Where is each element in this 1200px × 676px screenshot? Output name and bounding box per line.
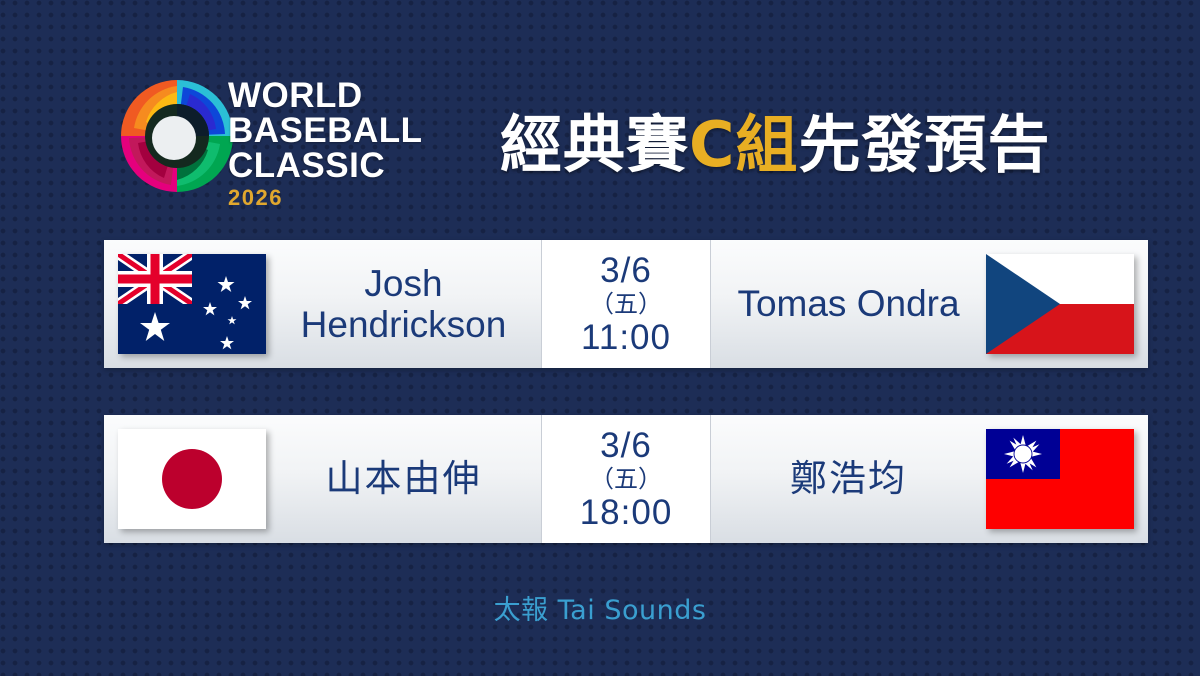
away-player-name: Tomas Ondra bbox=[711, 283, 986, 324]
match-weekday: （五） bbox=[590, 292, 662, 316]
japan-flag-icon bbox=[118, 429, 266, 529]
away-player-name: 鄭浩均 bbox=[711, 458, 986, 499]
match-home-side: 山本由伸 bbox=[104, 415, 541, 543]
match-away-side: Tomas Ondra bbox=[711, 240, 1148, 368]
match-schedule: 3/6 （五） 11:00 bbox=[541, 240, 711, 368]
home-player-name: 山本由伸 bbox=[266, 458, 541, 499]
wordmark-line-world: WORLD bbox=[228, 78, 488, 113]
title-prefix: 經典賽 bbox=[500, 94, 689, 184]
title-suffix: 先發預告 bbox=[799, 94, 1051, 184]
home-player-name-line: Hendrickson bbox=[276, 304, 531, 345]
wordmark-line-baseball: BASEBALL bbox=[228, 113, 488, 148]
match-home-side: Josh Hendrickson bbox=[104, 240, 541, 368]
wbc-wordmark: WORLD BASEBALL CLASSIC 2026 bbox=[228, 78, 488, 213]
match-schedule: 3/6 （五） 18:00 bbox=[541, 415, 711, 543]
taiwan-flag-icon bbox=[986, 429, 1134, 529]
match-date: 3/6 bbox=[600, 428, 652, 463]
home-player-name-line: Josh bbox=[276, 263, 531, 304]
home-player-name-line: 山本由伸 bbox=[276, 458, 531, 499]
away-player-name-line: Tomas Ondra bbox=[721, 283, 976, 324]
header: WORLD BASEBALL CLASSIC 2026 經典賽C組先發預告 bbox=[0, 0, 1200, 232]
match-row[interactable]: Josh Hendrickson 3/6 （五） 11:00 Tomas Ond… bbox=[104, 240, 1148, 368]
world-baseball-classic-logo-icon bbox=[112, 72, 242, 200]
page-title: 經典賽C組先發預告 bbox=[500, 98, 1051, 180]
title-highlight-group: C組 bbox=[689, 94, 799, 184]
wordmark-year: 2026 bbox=[228, 183, 488, 213]
footer-credit: 太報 Tai Sounds bbox=[0, 588, 1200, 627]
match-row[interactable]: 山本由伸 3/6 （五） 18:00 鄭浩均 bbox=[104, 415, 1148, 543]
match-away-side: 鄭浩均 bbox=[711, 415, 1148, 543]
match-weekday: （五） bbox=[590, 467, 662, 491]
match-time: 11:00 bbox=[581, 320, 671, 355]
czech-republic-flag-icon bbox=[986, 254, 1134, 354]
match-date: 3/6 bbox=[600, 253, 652, 288]
match-time: 18:00 bbox=[580, 495, 673, 530]
broadcast-graphic-root: WORLD BASEBALL CLASSIC 2026 經典賽C組先發預告 bbox=[0, 0, 1200, 676]
away-player-name-line: 鄭浩均 bbox=[721, 458, 976, 499]
wordmark-line-classic: CLASSIC bbox=[228, 148, 488, 183]
home-player-name: Josh Hendrickson bbox=[266, 263, 541, 346]
australia-flag-icon bbox=[118, 254, 266, 354]
